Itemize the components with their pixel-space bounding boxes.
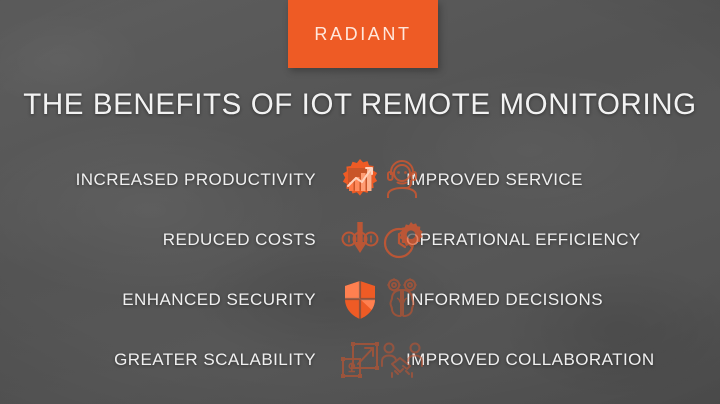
- headset-agent-icon: [378, 156, 426, 204]
- benefit-label-improved-service: IMPROVED SERVICE: [398, 170, 720, 190]
- right-column-icons: [372, 150, 432, 390]
- brand-name: RADIANT: [314, 24, 411, 45]
- benefits-grid: INCREASED PRODUCTIVITY IMPROVED SERVICE …: [0, 150, 720, 390]
- clock-gear-icon: [378, 216, 426, 264]
- benefit-label-operational-efficiency: OPERATIONAL EFFICIENCY: [398, 230, 720, 250]
- benefit-label-improved-collaboration: IMPROVED COLLABORATION: [398, 350, 720, 370]
- benefit-label-greater-scalability: GREATER SCALABILITY: [0, 350, 322, 370]
- handshake-people-icon: [378, 336, 426, 384]
- benefit-label-increased-productivity: INCREASED PRODUCTIVITY: [0, 170, 322, 190]
- benefit-label-reduced-costs: REDUCED COSTS: [0, 230, 322, 250]
- brand-badge: RADIANT: [288, 0, 438, 68]
- slide-title: THE BENEFITS OF IOT REMOTE MONITORING: [0, 88, 720, 122]
- slide-canvas: RADIANT THE BENEFITS OF IOT REMOTE MONIT…: [0, 0, 720, 404]
- benefit-label-enhanced-security: ENHANCED SECURITY: [0, 290, 322, 310]
- brain-gears-icon: [378, 276, 426, 324]
- benefit-label-informed-decisions: INFORMED DECISIONS: [398, 290, 720, 310]
